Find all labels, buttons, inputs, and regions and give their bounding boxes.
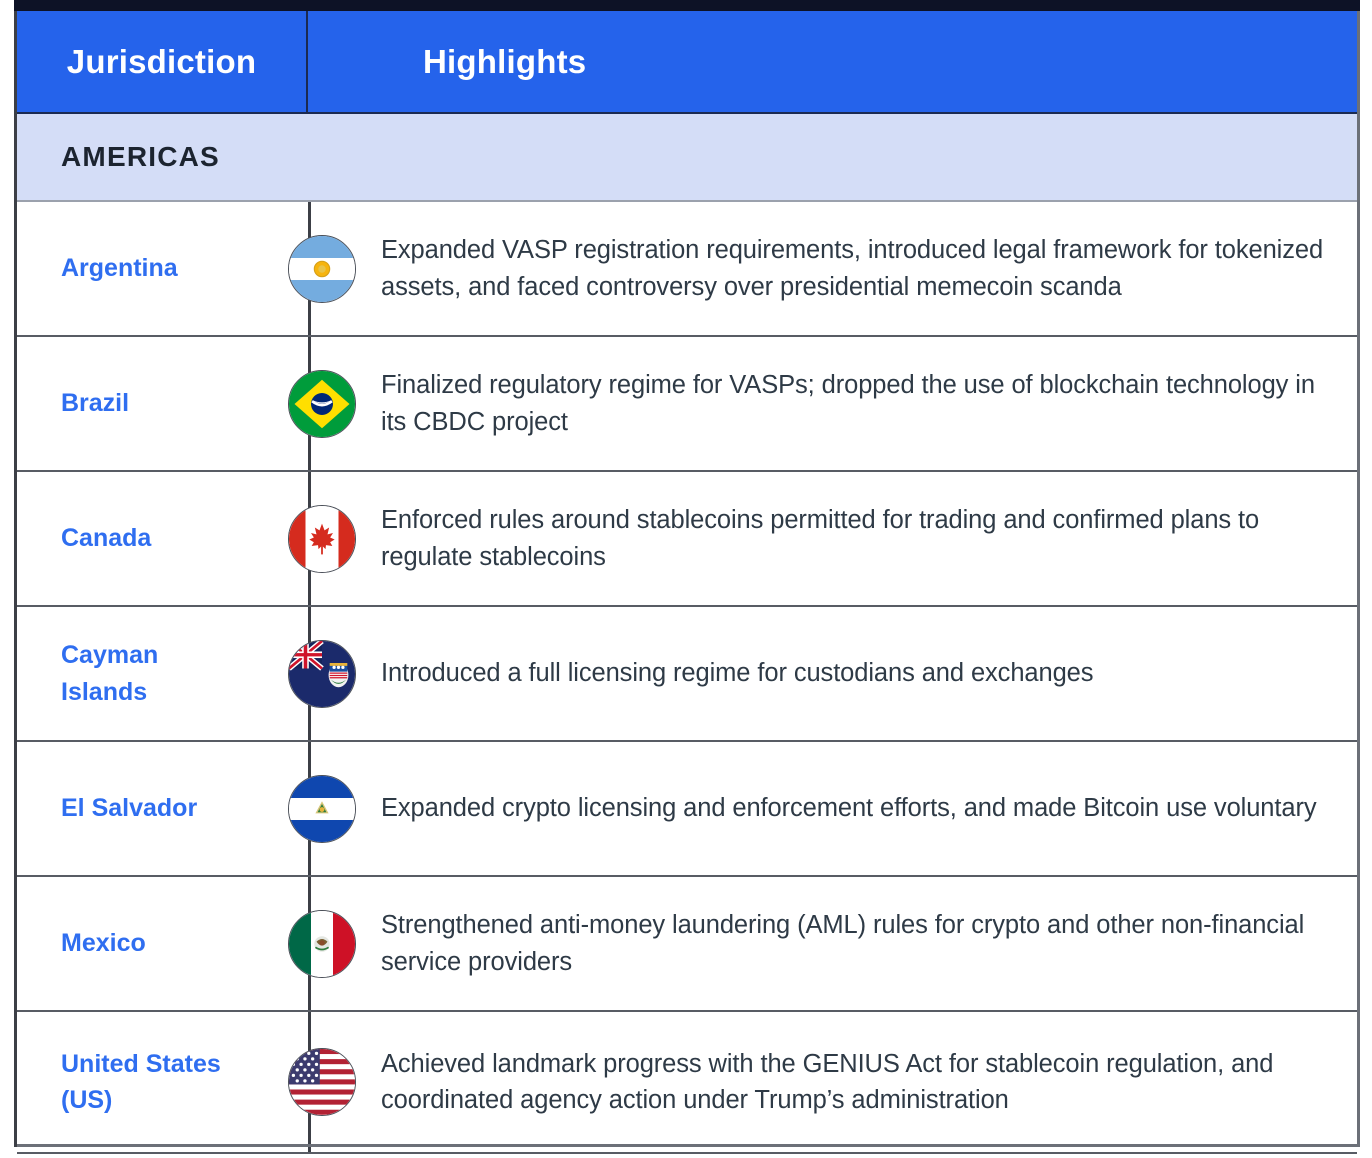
flag-cayman-islands-icon: [288, 640, 356, 708]
highlight-text: Finalized regulatory regime for VASPs; d…: [381, 367, 1337, 439]
flag-canada-icon: [288, 505, 356, 573]
table-row: Canada Enforced rules around st: [17, 472, 1357, 607]
cell-highlights: Introduced a full licensing regime for c…: [308, 655, 1357, 691]
regulatory-summary-table-page: Jurisdiction Highlights AMERICAS Argenti…: [0, 0, 1372, 1158]
flag-el-salvador-icon: [288, 775, 356, 843]
jurisdiction-link-el-salvador[interactable]: El Salvador: [61, 794, 197, 822]
cell-jurisdiction: Canada: [17, 520, 308, 556]
jurisdiction-link-argentina[interactable]: Argentina: [61, 254, 178, 282]
cell-jurisdiction: Mexico: [17, 925, 308, 961]
highlight-text: Introduced a full licensing regime for c…: [381, 655, 1337, 691]
cell-highlights: Strengthened anti-money laundering (AML)…: [308, 907, 1357, 979]
highlight-text: Strengthened anti-money laundering (AML)…: [381, 907, 1337, 979]
jurisdiction-link-cayman-islands[interactable]: Cayman Islands: [61, 641, 158, 705]
jurisdiction-link-mexico[interactable]: Mexico: [61, 929, 146, 957]
cell-jurisdiction: Argentina: [17, 250, 308, 286]
cell-highlights: Expanded VASP registration requirements,…: [308, 232, 1357, 304]
table-row: Cayman Islands: [17, 607, 1357, 742]
jurisdiction-link-brazil[interactable]: Brazil: [61, 389, 129, 417]
top-dark-strip: [14, 0, 1360, 11]
jurisdiction-link-canada[interactable]: Canada: [61, 524, 151, 552]
table-bottom-edge: [17, 1144, 1357, 1147]
table-header-row: Jurisdiction Highlights: [17, 11, 1357, 114]
cell-jurisdiction: United States (US): [17, 1046, 308, 1119]
jurisdiction-highlights-table: Jurisdiction Highlights AMERICAS Argenti…: [14, 11, 1360, 1147]
table-row: United States (US): [17, 1012, 1357, 1154]
flag-united-states-icon: [288, 1048, 356, 1116]
table-row: El Salvador Expa: [17, 742, 1357, 877]
region-band-americas: AMERICAS: [17, 114, 1357, 202]
table-row: Mexico: [17, 877, 1357, 1012]
cell-jurisdiction: El Salvador: [17, 790, 308, 826]
column-header-jurisdiction: Jurisdiction: [17, 11, 308, 112]
cell-highlights: Enforced rules around stablecoins permit…: [308, 502, 1357, 574]
highlight-text: Achieved landmark progress with the GENI…: [381, 1046, 1337, 1118]
table-row: Argentina Expanded VASP registr: [17, 202, 1357, 337]
cell-jurisdiction: Brazil: [17, 385, 308, 421]
cell-jurisdiction: Cayman Islands: [17, 637, 308, 710]
flag-argentina-icon: [288, 235, 356, 303]
region-label: AMERICAS: [61, 141, 220, 173]
highlight-text: Expanded VASP registration requirements,…: [381, 232, 1337, 304]
table-row: Brazil Finalized regulatory reg: [17, 337, 1357, 472]
cell-highlights: Finalized regulatory regime for VASPs; d…: [308, 367, 1357, 439]
jurisdiction-link-united-states[interactable]: United States (US): [61, 1050, 221, 1114]
flag-mexico-icon: [288, 910, 356, 978]
column-header-highlights: Highlights: [308, 11, 1357, 112]
cell-highlights: Expanded crypto licensing and enforcemen…: [308, 790, 1357, 826]
highlight-text: Expanded crypto licensing and enforcemen…: [381, 790, 1337, 826]
table-body: Argentina Expanded VASP registr: [17, 202, 1357, 1154]
cell-highlights: Achieved landmark progress with the GENI…: [308, 1046, 1357, 1118]
flag-brazil-icon: [288, 370, 356, 438]
highlight-text: Enforced rules around stablecoins permit…: [381, 502, 1337, 574]
